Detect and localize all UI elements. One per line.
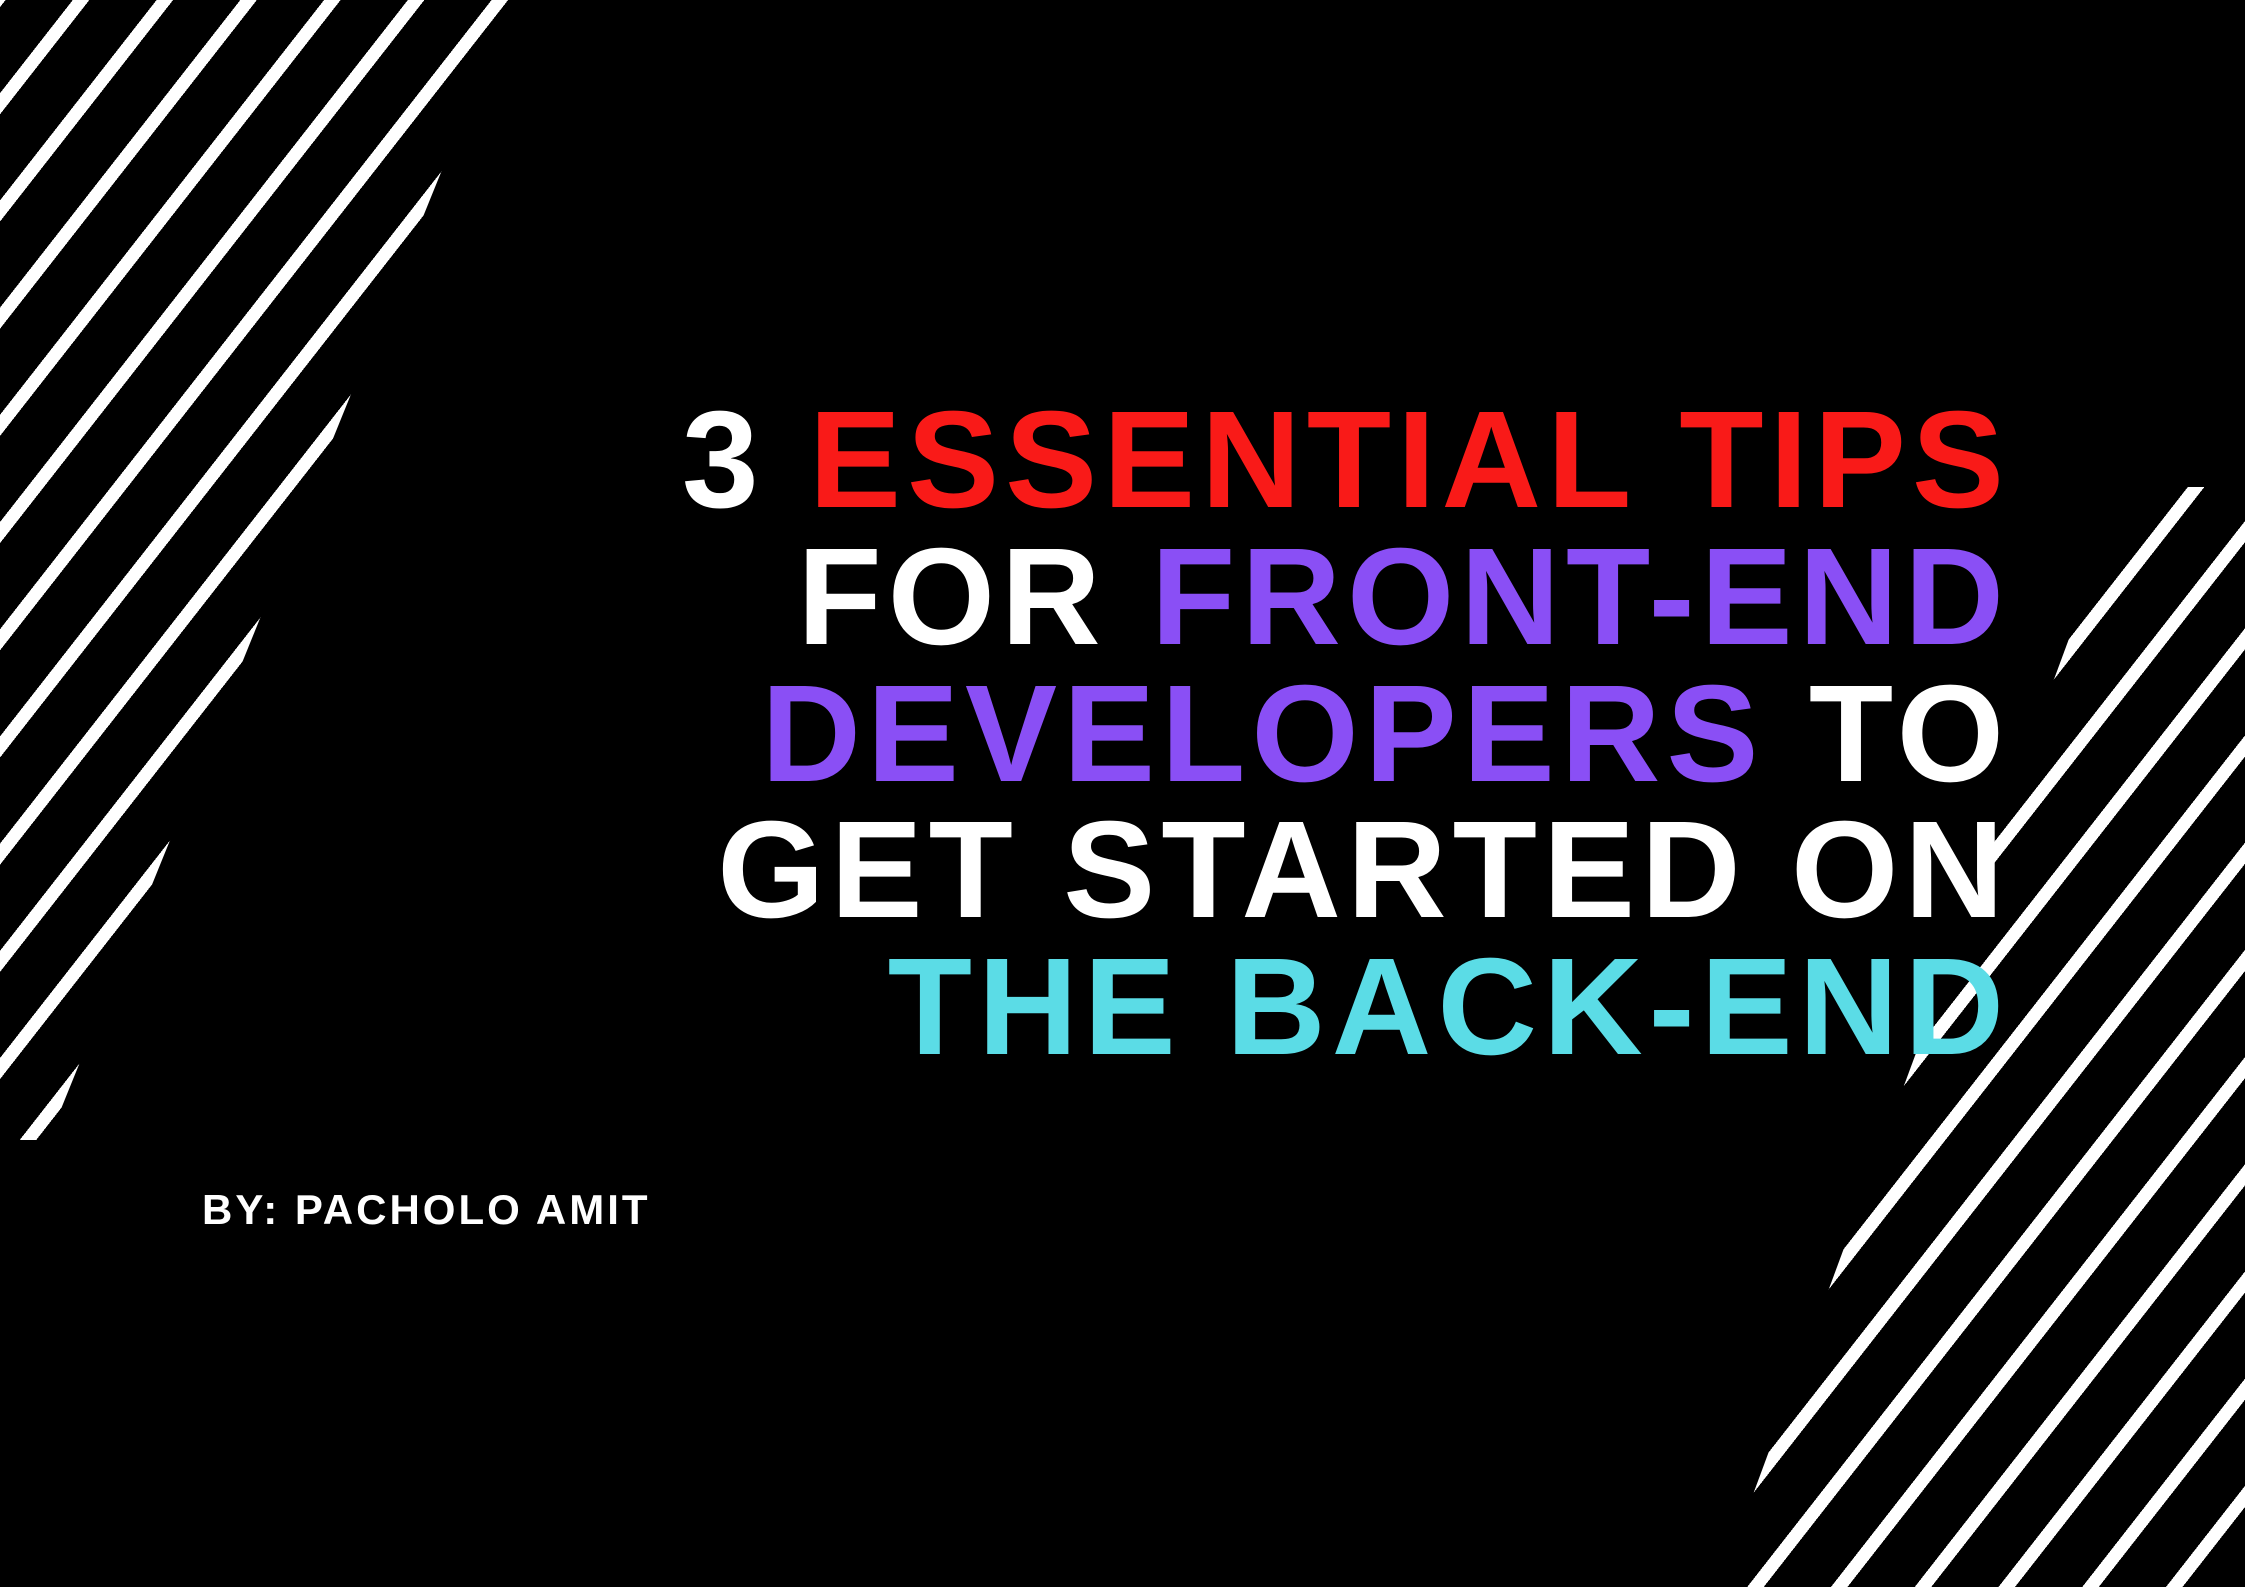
headline-segment: FRONT-END: [1151, 520, 2010, 674]
headline-title: 3 ESSENTIAL TIPS FOR FRONT-END DEVELOPER…: [430, 392, 2010, 1075]
headline-segment: TO: [1765, 657, 2010, 811]
author-byline: BY: PACHOLO AMIT: [202, 1186, 651, 1234]
headline-line-5: THE BACK-END: [430, 939, 2010, 1076]
headline-segment: DEVELOPERS: [761, 657, 1764, 811]
headline-line-4: GET STARTED ON: [430, 802, 2010, 939]
headline-segment: ESSENTIAL TIPS: [809, 383, 2010, 537]
headline-segment: FOR: [797, 520, 1151, 674]
headline-segment: GET STARTED ON: [717, 793, 2010, 947]
headline-line-1: 3 ESSENTIAL TIPS: [430, 392, 2010, 529]
headline-line-2: FOR FRONT-END: [430, 529, 2010, 666]
title-slide: 3 ESSENTIAL TIPS FOR FRONT-END DEVELOPER…: [0, 0, 2245, 1587]
headline-segment: THE BACK-END: [888, 930, 2010, 1084]
headline-segment: 3: [682, 383, 809, 537]
headline-line-3: DEVELOPERS TO: [430, 666, 2010, 803]
